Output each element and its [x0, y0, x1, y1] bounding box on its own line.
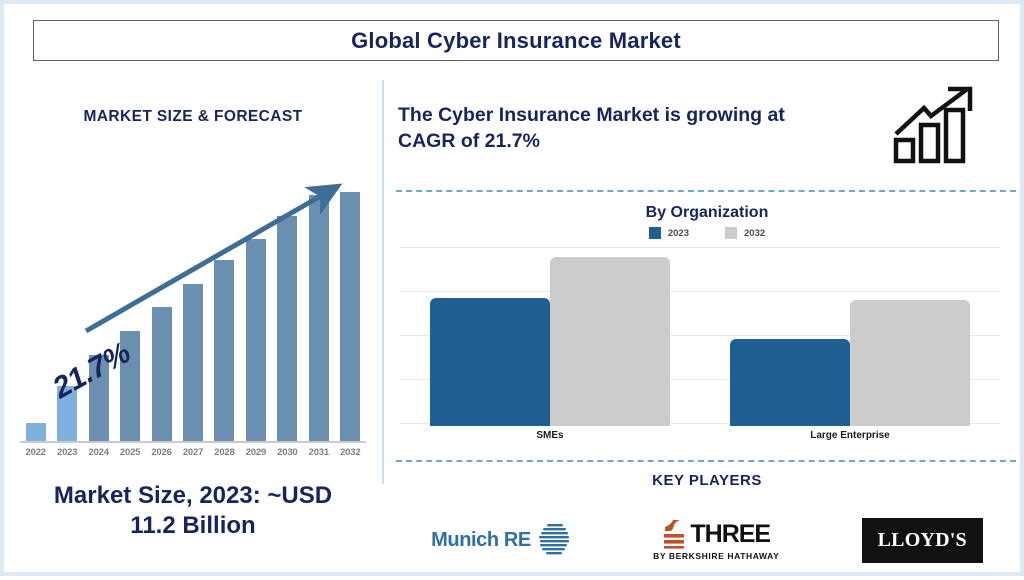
forecast-bar-column: [146, 179, 177, 441]
forecast-year-label: 2025: [114, 447, 145, 458]
forecast-bar: [246, 239, 266, 441]
bar-2032: [550, 257, 670, 426]
forecast-bar-column: [240, 179, 271, 441]
legend-swatch-2032: [725, 227, 737, 239]
three-label: THREE: [690, 520, 770, 549]
forecast-bar: [277, 216, 297, 441]
grouped-bars: [400, 248, 1000, 426]
logo-munich-re: Munich RE: [431, 509, 571, 571]
category-label: Large Enterprise: [700, 430, 1000, 441]
category-labels: SMEsLarge Enterprise: [400, 430, 1000, 441]
market-size-footer-line1: Market Size, 2023: ~USD: [54, 482, 332, 509]
forecast-bar-column: [335, 179, 366, 441]
forecast-axis-line: [20, 441, 366, 443]
key-players-logos: Munich RE: [390, 500, 1024, 580]
forecast-year-label: 2023: [51, 447, 82, 458]
cagr-statement: The Cyber Insurance Market is growing at…: [398, 102, 868, 155]
munich-re-globe-icon: [537, 522, 571, 558]
by-organization-legend: 20232032: [390, 227, 1024, 239]
forecast-bar-column: [303, 179, 334, 441]
forecast-bar: [309, 195, 329, 441]
forecast-year-label: 2024: [83, 447, 114, 458]
forecast-bar: [26, 423, 46, 441]
bar-2032: [850, 300, 970, 426]
forecast-year-label: 2022: [20, 447, 51, 458]
market-size-footer: Market Size, 2023: ~USD 11.2 Billion: [14, 481, 372, 541]
market-size-forecast-chart: 2022202320242025202620272028202920302031…: [12, 179, 374, 474]
bar-group: [700, 248, 1000, 426]
divider-dashed-top: [396, 190, 1016, 192]
forecast-year-label: 2028: [209, 447, 240, 458]
bar-2023: [730, 339, 850, 426]
three-sublabel: BY BERKSHIRE HATHAWAY: [653, 551, 779, 561]
divider-dashed-bottom: [396, 460, 1016, 462]
forecast-year-label: 2027: [177, 447, 208, 458]
forecast-bar-column: [272, 179, 303, 441]
forecast-bar-column: [114, 179, 145, 441]
lloyds-label: LLOYD'S: [878, 529, 967, 551]
forecast-bar: [340, 192, 360, 441]
three-flame-icon: [662, 519, 688, 549]
page-title-box: Global Cyber Insurance Market: [33, 20, 999, 61]
munich-re-label: Munich RE: [431, 529, 531, 552]
forecast-bar: [152, 307, 172, 441]
forecast-year-label: 2029: [240, 447, 271, 458]
cagr-statement-line2: CAGR of 21.7%: [398, 130, 540, 152]
forecast-year-label: 2026: [146, 447, 177, 458]
bar-2023: [430, 298, 550, 426]
forecast-bar-column: [177, 179, 208, 441]
forecast-year-label: 2031: [303, 447, 334, 458]
infographic-frame: Global Cyber Insurance Market MARKET SIZ…: [0, 0, 1024, 576]
legend-item: 2023: [649, 227, 689, 239]
bar-group: [400, 248, 700, 426]
forecast-bar-column: [83, 179, 114, 441]
growth-bar-chart-arrow-icon: [890, 86, 986, 164]
legend-label: 2032: [744, 228, 765, 239]
forecast-bar: [183, 284, 203, 441]
page-title: Global Cyber Insurance Market: [351, 28, 681, 54]
by-organization-title: By Organization: [390, 204, 1024, 222]
by-organization-chart: [400, 246, 1000, 426]
forecast-bar-column: [20, 179, 51, 441]
legend-label: 2023: [668, 228, 689, 239]
key-players-title: KEY PLAYERS: [390, 472, 1024, 489]
logo-three: THREE BY BERKSHIRE HATHAWAY: [653, 509, 779, 571]
cagr-statement-line1: The Cyber Insurance Market is growing at: [398, 104, 785, 126]
forecast-year-label: 2032: [335, 447, 366, 458]
legend-item: 2032: [725, 227, 765, 239]
logo-lloyds: LLOYD'S: [862, 509, 983, 571]
category-label: SMEs: [400, 430, 700, 441]
forecast-bar: [214, 260, 234, 441]
forecast-bars: [20, 179, 366, 441]
forecast-plot-area: [20, 179, 366, 441]
forecast-year-label: 2030: [272, 447, 303, 458]
panel-divider: [382, 80, 384, 484]
details-panel: The Cyber Insurance Market is growing at…: [390, 74, 1024, 580]
three-logo-row: THREE: [662, 519, 770, 549]
forecast-bar-column: [209, 179, 240, 441]
forecast-year-labels: 2022202320242025202620272028202920302031…: [20, 447, 366, 458]
market-size-footer-line2: 11.2 Billion: [130, 512, 255, 539]
lloyds-box: LLOYD'S: [862, 518, 983, 563]
legend-swatch-2023: [649, 227, 661, 239]
market-size-panel: MARKET SIZE & FORECAST 20222023202420252…: [4, 74, 382, 580]
market-size-heading: MARKET SIZE & FORECAST: [4, 108, 382, 126]
